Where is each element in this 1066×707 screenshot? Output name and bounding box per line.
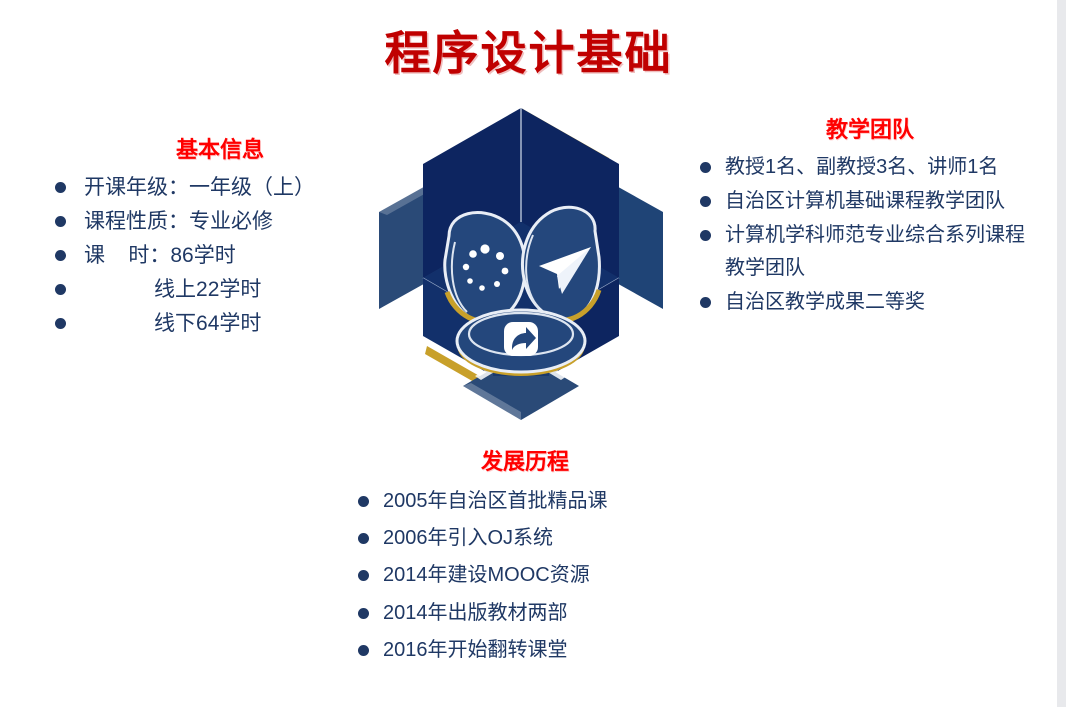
list-item-label: 2005年自治区首批精品课 bbox=[383, 485, 720, 517]
list-item: 2016年开始翻转课堂 bbox=[358, 634, 720, 666]
list-item-label: 2016年开始翻转课堂 bbox=[383, 634, 720, 666]
section-heading-history: 发展历程 bbox=[330, 448, 720, 477]
list-item: 课程性质：专业必修 bbox=[55, 205, 385, 239]
bullet-dot-icon bbox=[700, 297, 711, 308]
share-forward-icon bbox=[504, 322, 538, 356]
section-heading-teaching-team: 教学团队 bbox=[700, 116, 1040, 145]
list-item-label: 课程性质：专业必修 bbox=[84, 205, 385, 239]
list-item-label: 2014年出版教材两部 bbox=[383, 597, 720, 629]
list-item: 开课年级：一年级（上） bbox=[55, 171, 385, 205]
bullet-dot-icon bbox=[55, 318, 66, 329]
cube-badge-right bbox=[523, 207, 600, 320]
list-item: 2014年建设MOOC资源 bbox=[358, 559, 720, 591]
list-item: 课 时：86学时 bbox=[55, 239, 385, 273]
section-basic-info: 基本信息 开课年级：一年级（上） 课程性质：专业必修 课 时：86学时 线上22… bbox=[55, 136, 385, 341]
bullet-dot-icon bbox=[358, 645, 369, 656]
list-item-label: 自治区计算机基础课程教学团队 bbox=[725, 185, 1040, 217]
list-item: 2005年自治区首批精品课 bbox=[358, 485, 720, 517]
bullet-dot-icon bbox=[700, 230, 711, 241]
cube-badge-left bbox=[445, 213, 525, 323]
isometric-cube-illustration bbox=[363, 100, 679, 445]
teaching-team-list: 教授1名、副教授3名、讲师1名 自治区计算机基础课程教学团队 计算机学科师范专业… bbox=[700, 151, 1040, 319]
list-item-label: 教授1名、副教授3名、讲师1名 bbox=[725, 151, 1040, 183]
bullet-dot-icon bbox=[55, 216, 66, 227]
page-gutter bbox=[1057, 0, 1066, 707]
list-item-label: 2006年引入OJ系统 bbox=[383, 522, 720, 554]
list-item-label: 线下64学时 bbox=[84, 307, 385, 341]
list-item: 自治区教学成果二等奖 bbox=[700, 286, 1040, 318]
basic-info-list: 开课年级：一年级（上） 课程性质：专业必修 课 时：86学时 线上22学时 线下… bbox=[55, 171, 385, 341]
list-item-label: 计算机学科师范专业综合系列课程教学团队 bbox=[725, 219, 1040, 284]
list-item: 计算机学科师范专业综合系列课程教学团队 bbox=[700, 219, 1040, 284]
bullet-dot-icon bbox=[55, 250, 66, 261]
section-history: 发展历程 2005年自治区首批精品课 2006年引入OJ系统 2014年建设MO… bbox=[330, 448, 720, 667]
list-item: 2006年引入OJ系统 bbox=[358, 522, 720, 554]
history-list: 2005年自治区首批精品课 2006年引入OJ系统 2014年建设MOOC资源 … bbox=[330, 485, 720, 667]
list-item-label: 课 时：86学时 bbox=[84, 239, 385, 273]
section-teaching-team: 教学团队 教授1名、副教授3名、讲师1名 自治区计算机基础课程教学团队 计算机学… bbox=[700, 116, 1040, 319]
slide-canvas: 程序设计基础 bbox=[0, 0, 1066, 707]
list-item-label: 自治区教学成果二等奖 bbox=[725, 286, 1040, 318]
list-item-label: 开课年级：一年级（上） bbox=[84, 171, 385, 205]
bullet-dot-icon bbox=[700, 196, 711, 207]
bullet-dot-icon bbox=[358, 608, 369, 619]
page-title: 程序设计基础 bbox=[0, 26, 1057, 81]
list-item: 线上22学时 bbox=[55, 273, 385, 307]
list-item: 2014年出版教材两部 bbox=[358, 597, 720, 629]
list-item: 线下64学时 bbox=[55, 307, 385, 341]
cube-badge-bottom bbox=[457, 310, 585, 376]
list-item-label: 线上22学时 bbox=[84, 273, 385, 307]
bullet-dot-icon bbox=[358, 570, 369, 581]
list-item-label: 2014年建设MOOC资源 bbox=[383, 559, 720, 591]
bullet-dot-icon bbox=[358, 496, 369, 507]
bullet-dot-icon bbox=[55, 182, 66, 193]
list-item: 自治区计算机基础课程教学团队 bbox=[700, 185, 1040, 217]
section-heading-basic-info: 基本信息 bbox=[55, 136, 385, 165]
bullet-dot-icon bbox=[55, 284, 66, 295]
list-item: 教授1名、副教授3名、讲师1名 bbox=[700, 151, 1040, 183]
bullet-dot-icon bbox=[700, 162, 711, 173]
bullet-dot-icon bbox=[358, 533, 369, 544]
